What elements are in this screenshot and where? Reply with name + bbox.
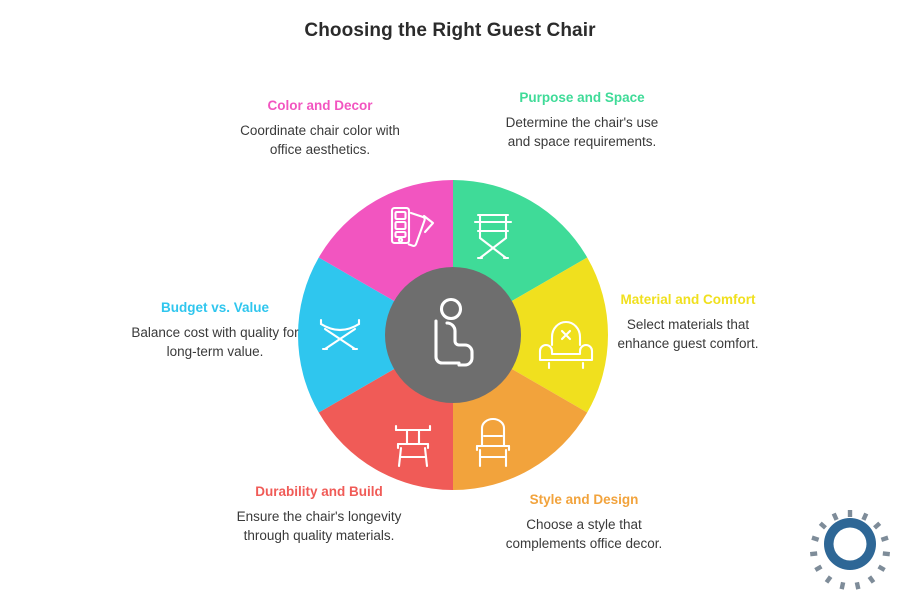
callout-durability-desc: Ensure the chair's longevity through qua…	[234, 508, 404, 545]
center-circle	[385, 267, 521, 403]
brand-ring-logo[interactable]	[806, 506, 894, 594]
callout-purpose-title: Purpose and Space	[497, 90, 667, 107]
logo-ring	[824, 518, 876, 570]
callout-budget-title: Budget vs. Value	[130, 300, 300, 317]
callout-budget-desc: Balance cost with quality for long-term …	[130, 324, 300, 361]
donut-wheel	[298, 180, 608, 490]
brand-ring-logo-svg	[806, 506, 894, 594]
page-title: Choosing the Right Guest Chair	[0, 20, 900, 42]
callout-budget[interactable]: Budget vs. Value Balance cost with quali…	[130, 300, 300, 361]
callout-material[interactable]: Material and Comfort Select materials th…	[603, 292, 773, 353]
callout-material-title: Material and Comfort	[603, 292, 773, 309]
callout-material-desc: Select materials that enhance guest comf…	[603, 316, 773, 353]
callout-style-desc: Choose a style that complements office d…	[499, 516, 669, 553]
wheel-svg	[298, 180, 608, 490]
infographic-canvas: Choosing the Right Guest Chair	[0, 0, 900, 600]
callout-durability[interactable]: Durability and Build Ensure the chair's …	[234, 484, 404, 545]
callout-purpose[interactable]: Purpose and Space Determine the chair's …	[497, 90, 667, 151]
callout-color[interactable]: Color and Decor Coordinate chair color w…	[235, 98, 405, 159]
callout-durability-title: Durability and Build	[234, 484, 404, 501]
callout-color-desc: Coordinate chair color with office aesth…	[235, 122, 405, 159]
callout-style-title: Style and Design	[499, 492, 669, 509]
callout-color-title: Color and Decor	[235, 98, 405, 115]
callout-purpose-desc: Determine the chair's use and space requ…	[497, 114, 667, 151]
callout-style[interactable]: Style and Design Choose a style that com…	[499, 492, 669, 553]
